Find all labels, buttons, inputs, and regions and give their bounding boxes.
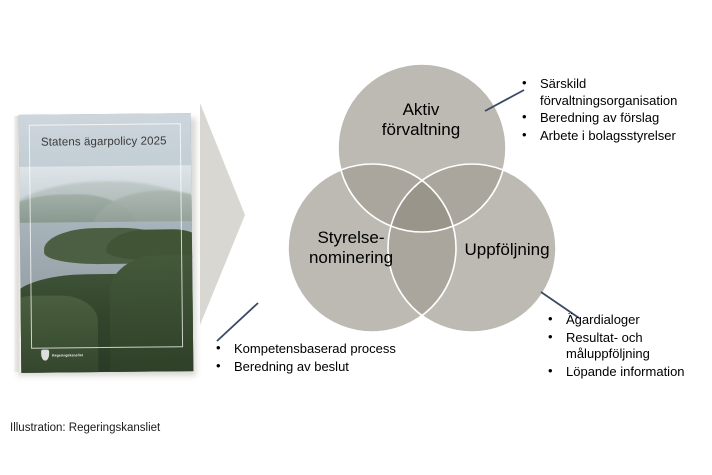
list-item: Kompetensbaserad process [212, 341, 422, 358]
photo-forest-left [19, 295, 99, 373]
list-item: Beredning av förslag [518, 110, 712, 127]
photo-forest-right [110, 255, 194, 373]
list-item: Löpande information [544, 364, 712, 381]
illustration-caption: Illustration: Regeringskansliet [10, 422, 160, 434]
slide-canvas: Statens ägarpolicy 2025 Regeringskanslie… [0, 0, 712, 475]
cover-logo: Regeringskansliet [41, 349, 83, 360]
report-cover-front: Statens ägarpolicy 2025 Regeringskanslie… [19, 113, 194, 373]
callout-list-bottom-right: Ägardialoger Resultat- och måluppföljnin… [544, 312, 712, 380]
venn-label-styrelsenominering: Styrelse- nominering [286, 228, 416, 268]
cover-title: Statens ägarpolicy 2025 [41, 135, 167, 148]
report-cover: Statens ägarpolicy 2025 Regeringskanslie… [14, 114, 194, 374]
list-item: Resultat- och måluppföljning [544, 330, 712, 363]
callout-aktiv-forvaltning: Särskild förvaltningsorganisation Beredn… [518, 76, 712, 145]
crest-icon [41, 350, 49, 361]
callout-uppfoljning: Ägardialoger Resultat- och måluppföljnin… [544, 312, 712, 381]
cover-photo-landscape [19, 113, 194, 373]
venn-label-aktiv-forvaltning: Aktiv förvaltning [346, 100, 496, 140]
venn-label-uppfoljning: Uppföljning [442, 240, 572, 260]
cover-logo-text: Regeringskansliet [52, 353, 83, 357]
list-item: Beredning av beslut [212, 359, 422, 376]
leader-line-bottom-left [214, 300, 262, 344]
list-item: Särskild förvaltningsorganisation [518, 76, 712, 109]
callout-list-top-right: Särskild förvaltningsorganisation Beredn… [518, 76, 712, 144]
arrow-right-icon [198, 103, 248, 325]
callout-styrelsenominering: Kompetensbaserad process Beredning av be… [212, 341, 422, 376]
list-item: Ägardialoger [544, 312, 712, 329]
list-item: Arbete i bolagsstyrelser [518, 128, 712, 145]
callout-list-bottom-left: Kompetensbaserad process Beredning av be… [212, 341, 422, 375]
